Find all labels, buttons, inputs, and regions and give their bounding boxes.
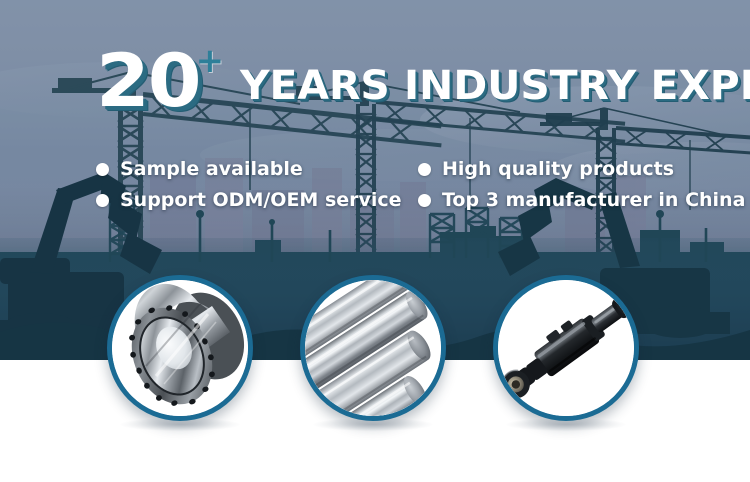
years-number: 20 bbox=[96, 52, 199, 112]
product-circle-steel-round-bars[interactable] bbox=[300, 275, 446, 421]
bullet-item: Sample available bbox=[96, 158, 396, 180]
bullet-item: Top 3 manufacturer in China bbox=[418, 189, 708, 211]
bullet-item: Support ODM/OEM service bbox=[96, 189, 396, 211]
product-circle-hydraulic-cylinder[interactable] bbox=[493, 275, 639, 421]
bullet-dot-icon bbox=[96, 194, 109, 207]
bullet-column-right: High quality products Top 3 manufacturer… bbox=[418, 158, 708, 211]
headline: 20 + YEARS INDUSTRY EXPERIENCE bbox=[96, 44, 750, 112]
bullet-dot-icon bbox=[418, 194, 431, 207]
bullet-dot-icon bbox=[96, 163, 109, 176]
bullet-label: Support ODM/OEM service bbox=[120, 189, 402, 211]
bullet-column-left: Sample available Support ODM/OEM service bbox=[96, 158, 396, 211]
product-circle-steel-flange-pipe[interactable] bbox=[107, 275, 253, 421]
bullet-label: Sample available bbox=[120, 158, 303, 180]
product-image-steel-flange-pipe bbox=[112, 280, 248, 416]
bullet-item: High quality products bbox=[418, 158, 708, 180]
promo-banner: 20 + YEARS INDUSTRY EXPERIENCE Sample av… bbox=[0, 0, 750, 482]
headline-text: YEARS INDUSTRY EXPERIENCE bbox=[240, 66, 750, 106]
feature-bullets: Sample available Support ODM/OEM service… bbox=[96, 158, 696, 211]
product-image-hydraulic-cylinder bbox=[498, 280, 634, 416]
bullet-label: High quality products bbox=[442, 158, 674, 180]
product-image-steel-round-bars bbox=[305, 280, 441, 416]
bullet-dot-icon bbox=[418, 163, 431, 176]
bullet-label: Top 3 manufacturer in China bbox=[442, 189, 745, 211]
